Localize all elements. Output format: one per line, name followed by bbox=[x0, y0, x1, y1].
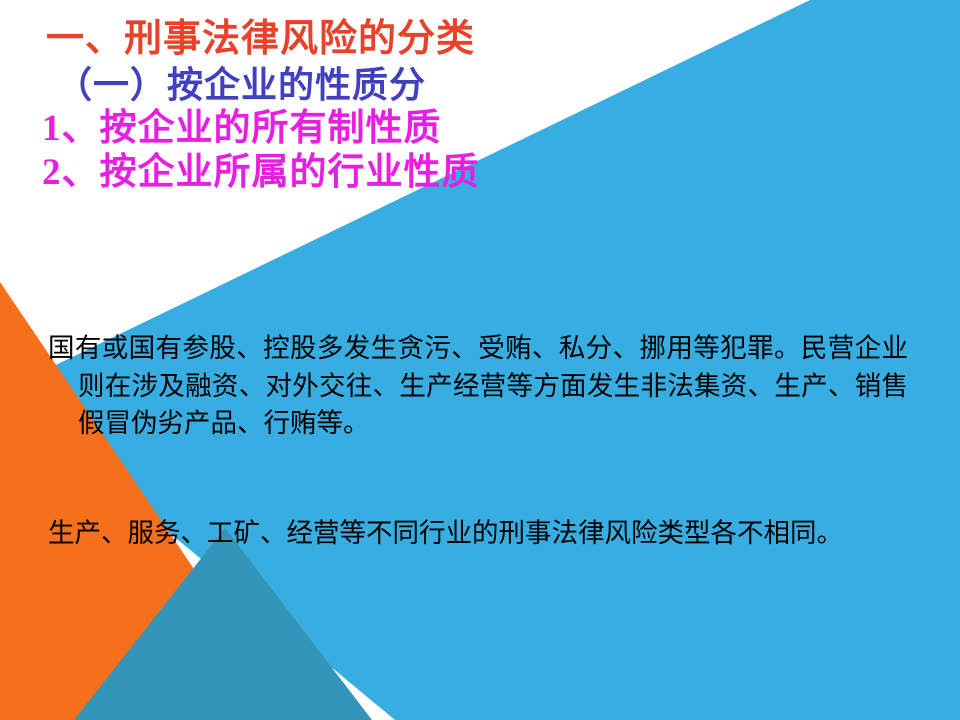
presentation-slide: 一、刑事法律风险的分类 （一）按企业的性质分 1、按企业的所有制性质 2、按企业… bbox=[0, 0, 960, 720]
body-paragraph-2: 生产、服务、工矿、经营等不同行业的刑事法律风险类型各不相同。 bbox=[48, 515, 908, 553]
heading-line-3: 1、按企业的所有制性质 bbox=[0, 108, 900, 149]
heading-line-4: 2、按企业所属的行业性质 bbox=[0, 152, 900, 193]
heading-line-1: 一、刑事法律风险的分类 bbox=[0, 18, 900, 61]
body-paragraph-1: 国有或国有参股、控股多发生贪污、受贿、私分、挪用等犯罪。民营企业则在涉及融资、对… bbox=[48, 330, 908, 443]
heading-line-2: （一）按企业的性质分 bbox=[0, 65, 900, 105]
slide-body-block: 国有或国有参股、控股多发生贪污、受贿、私分、挪用等犯罪。民营企业则在涉及融资、对… bbox=[48, 330, 908, 553]
slide-title-block: 一、刑事法律风险的分类 （一）按企业的性质分 1、按企业的所有制性质 2、按企业… bbox=[0, 18, 900, 194]
